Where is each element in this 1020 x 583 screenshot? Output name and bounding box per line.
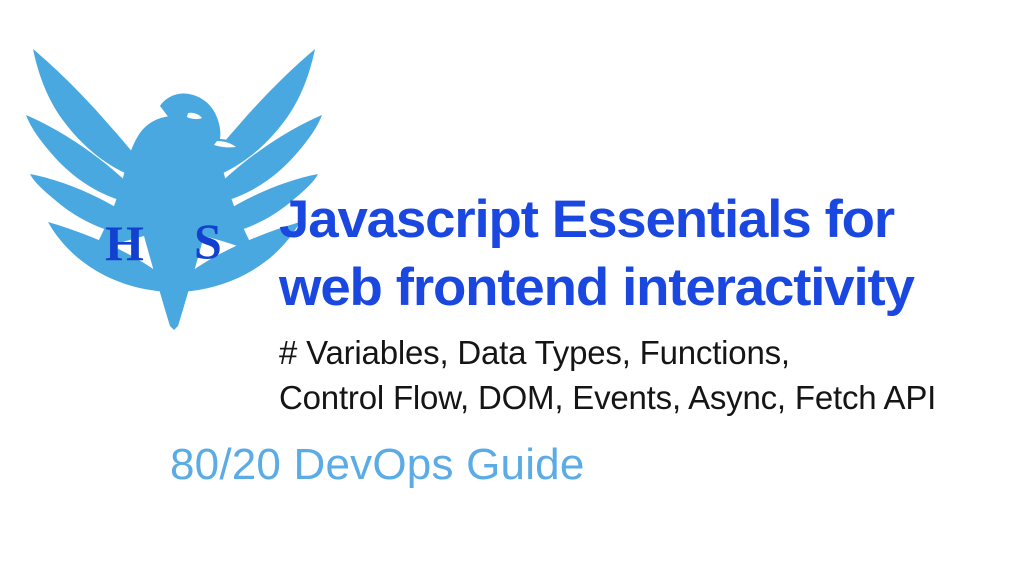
- slide-canvas: H S Javascript Essentials for web fronte…: [0, 0, 1020, 583]
- title-line-2: web frontend interactivity: [279, 254, 1020, 322]
- logo-letter-s: S: [194, 216, 222, 266]
- footer-brand-text: 80/20 DevOps Guide: [170, 436, 790, 494]
- footer-brand: 80/20 DevOps Guide: [170, 436, 790, 494]
- subtitle-line-2: Control Flow, DOM, Events, Async, Fetch …: [279, 375, 1009, 420]
- page-title: Javascript Essentials for web frontend i…: [279, 186, 1009, 322]
- subtitle-line-1: # Variables, Data Types, Functions,: [279, 330, 1009, 375]
- page-subtitle: # Variables, Data Types, Functions, Cont…: [279, 330, 1009, 420]
- logo-letter-h: H: [105, 218, 144, 268]
- title-line-1: Javascript Essentials for: [279, 186, 1020, 254]
